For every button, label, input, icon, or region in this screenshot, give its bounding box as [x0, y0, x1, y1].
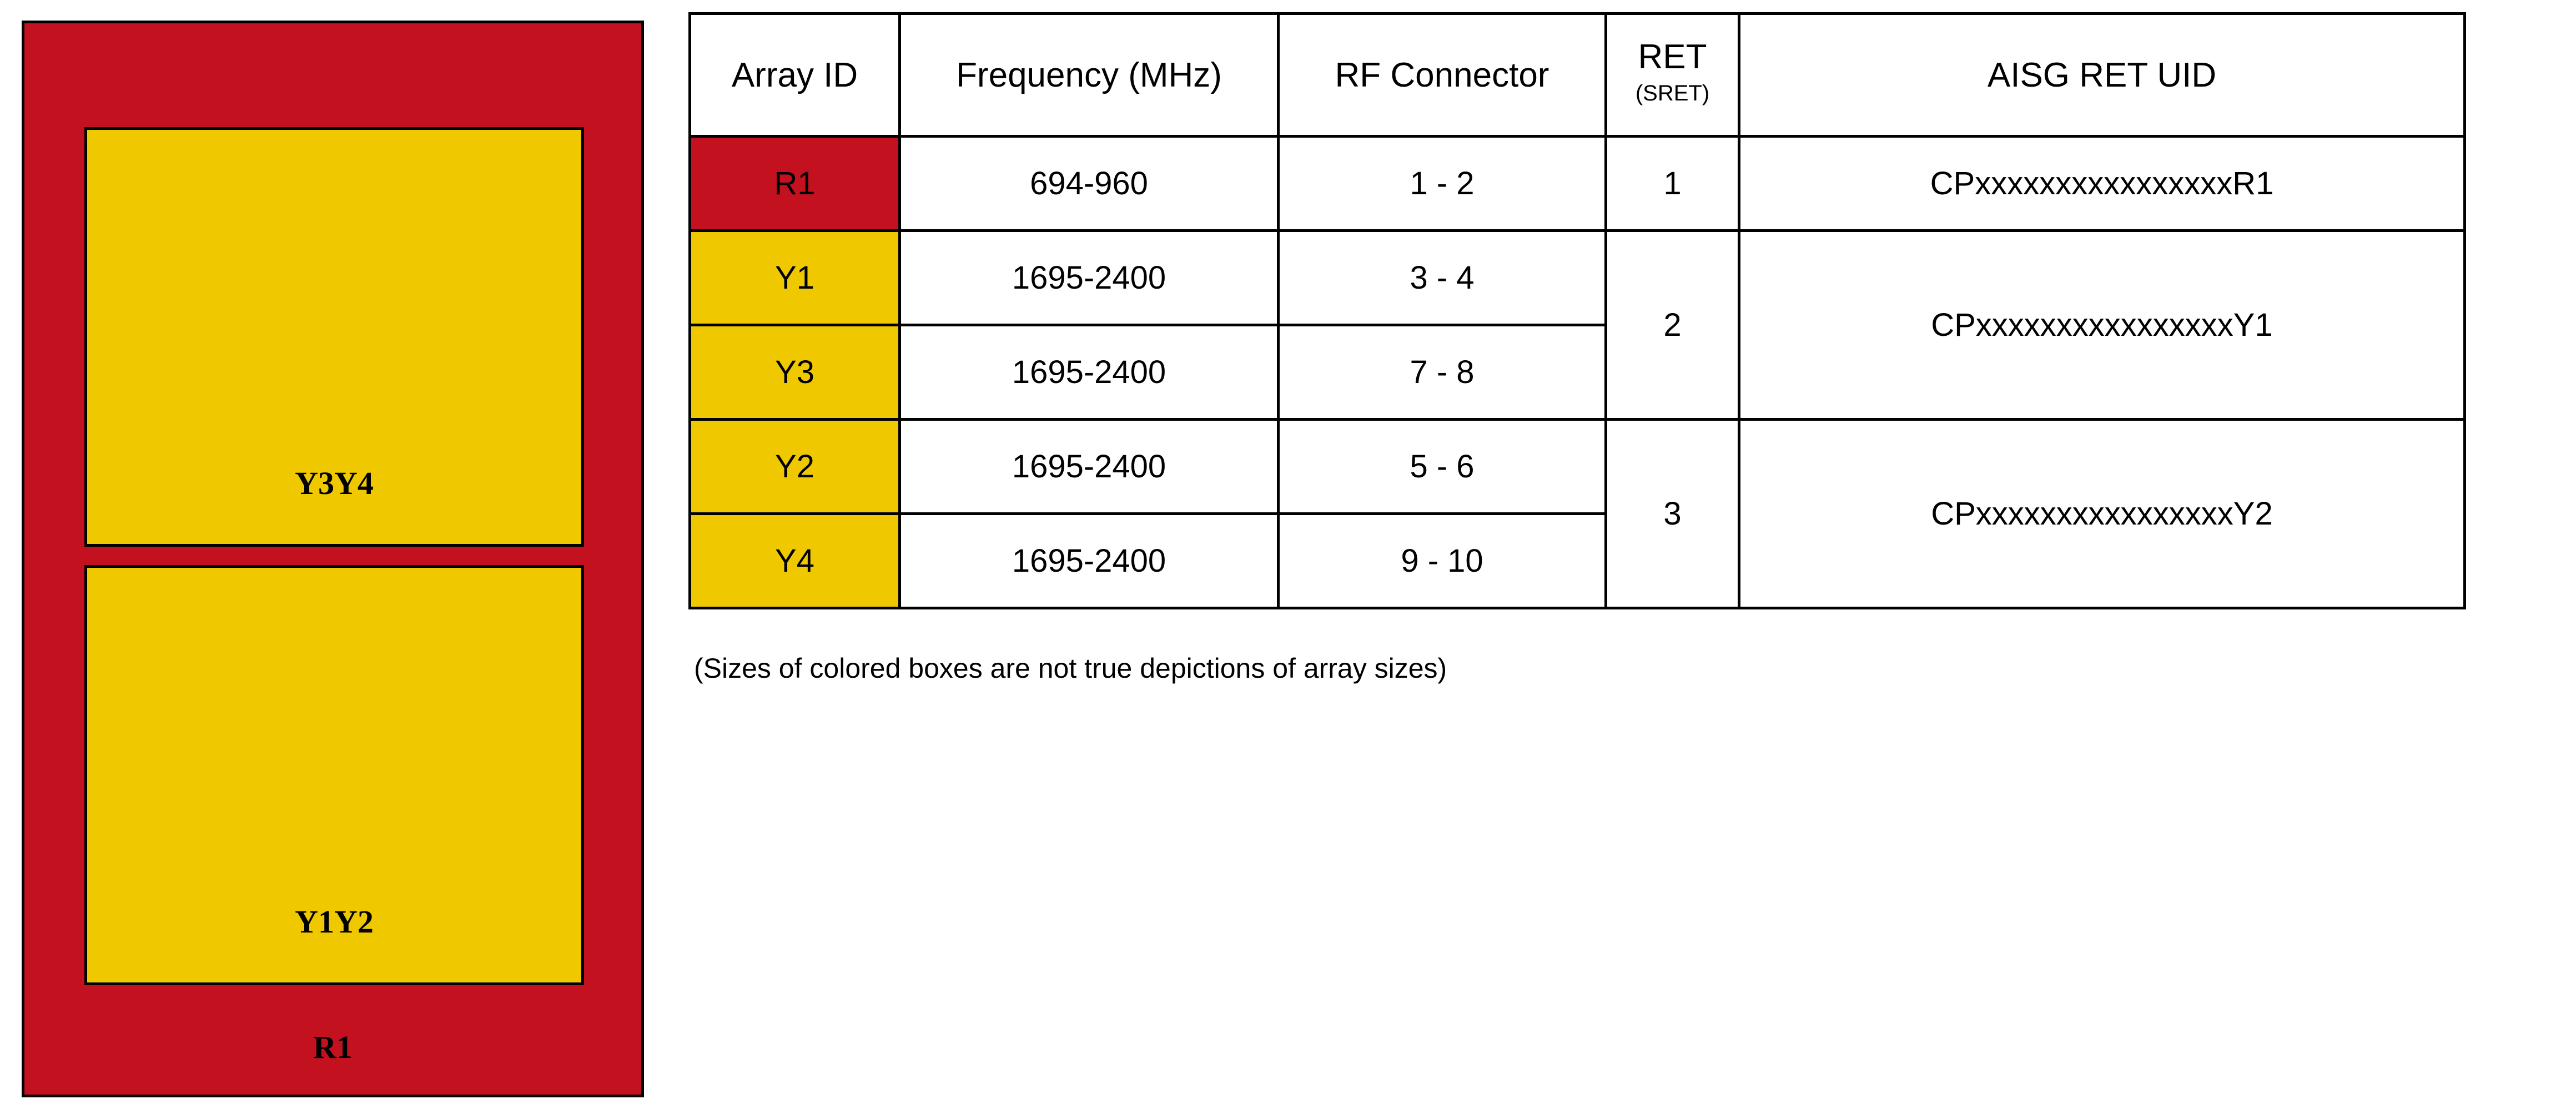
- cell-frequency: 1695-2400: [900, 514, 1279, 608]
- column-header-ret-sub: (SRET): [1607, 75, 1738, 111]
- panel-label-r1: R1: [24, 1031, 641, 1063]
- cell-aisg-ret-uid: CPxxxxxxxxxxxxxxxxY1: [1739, 231, 2465, 420]
- cell-array-id: R1: [690, 137, 900, 231]
- table-header-row: Array ID Frequency (MHz) RF Connector RE…: [690, 14, 2465, 137]
- cell-ret: 2: [1606, 231, 1739, 420]
- cell-rf-connector: 1 - 2: [1279, 137, 1606, 231]
- cell-rf-connector: 9 - 10: [1279, 514, 1606, 608]
- array-configuration-table: Array ID Frequency (MHz) RF Connector RE…: [688, 12, 2466, 609]
- cell-frequency: 694-960: [900, 137, 1279, 231]
- array-box-label-y3y4: Y3Y4: [87, 467, 581, 500]
- cell-aisg-ret-uid: CPxxxxxxxxxxxxxxxxR1: [1739, 137, 2465, 231]
- column-header-rf-connector: RF Connector: [1279, 14, 1606, 137]
- cell-array-id: Y1: [690, 231, 900, 325]
- cell-rf-connector: 3 - 4: [1279, 231, 1606, 325]
- column-header-array-id: Array ID: [690, 14, 900, 137]
- cell-array-id: Y2: [690, 420, 900, 514]
- table-row: Y2 1695-2400 5 - 6 3 CPxxxxxxxxxxxxxxxxY…: [690, 420, 2465, 514]
- array-box-y1y2: Y1Y2: [84, 565, 584, 985]
- cell-frequency: 1695-2400: [900, 231, 1279, 325]
- table-row: Y1 1695-2400 3 - 4 2 CPxxxxxxxxxxxxxxxxY…: [690, 231, 2465, 325]
- cell-rf-connector: 5 - 6: [1279, 420, 1606, 514]
- cell-rf-connector: 7 - 8: [1279, 325, 1606, 420]
- column-header-frequency: Frequency (MHz): [900, 14, 1279, 137]
- table-row: R1 694-960 1 - 2 1 CPxxxxxxxxxxxxxxxxR1: [690, 137, 2465, 231]
- array-box-label-y1y2: Y1Y2: [87, 906, 581, 938]
- cell-frequency: 1695-2400: [900, 325, 1279, 420]
- table-body: R1 694-960 1 - 2 1 CPxxxxxxxxxxxxxxxxR1 …: [690, 137, 2465, 608]
- antenna-panel-diagram: Y3Y4 Y1Y2 R1: [22, 21, 644, 1097]
- column-header-ret: RET (SRET): [1606, 14, 1739, 137]
- cell-aisg-ret-uid: CPxxxxxxxxxxxxxxxxY2: [1739, 420, 2465, 608]
- cell-frequency: 1695-2400: [900, 420, 1279, 514]
- column-header-ret-main: RET: [1607, 39, 1738, 75]
- table-header: Array ID Frequency (MHz) RF Connector RE…: [690, 14, 2465, 137]
- column-header-aisg-ret-uid: AISG RET UID: [1739, 14, 2465, 137]
- cell-array-id: Y4: [690, 514, 900, 608]
- table-caption: (Sizes of colored boxes are not true dep…: [694, 652, 1447, 684]
- array-box-y3y4: Y3Y4: [84, 127, 584, 547]
- cell-ret: 1: [1606, 137, 1739, 231]
- cell-ret: 3: [1606, 420, 1739, 608]
- cell-array-id: Y3: [690, 325, 900, 420]
